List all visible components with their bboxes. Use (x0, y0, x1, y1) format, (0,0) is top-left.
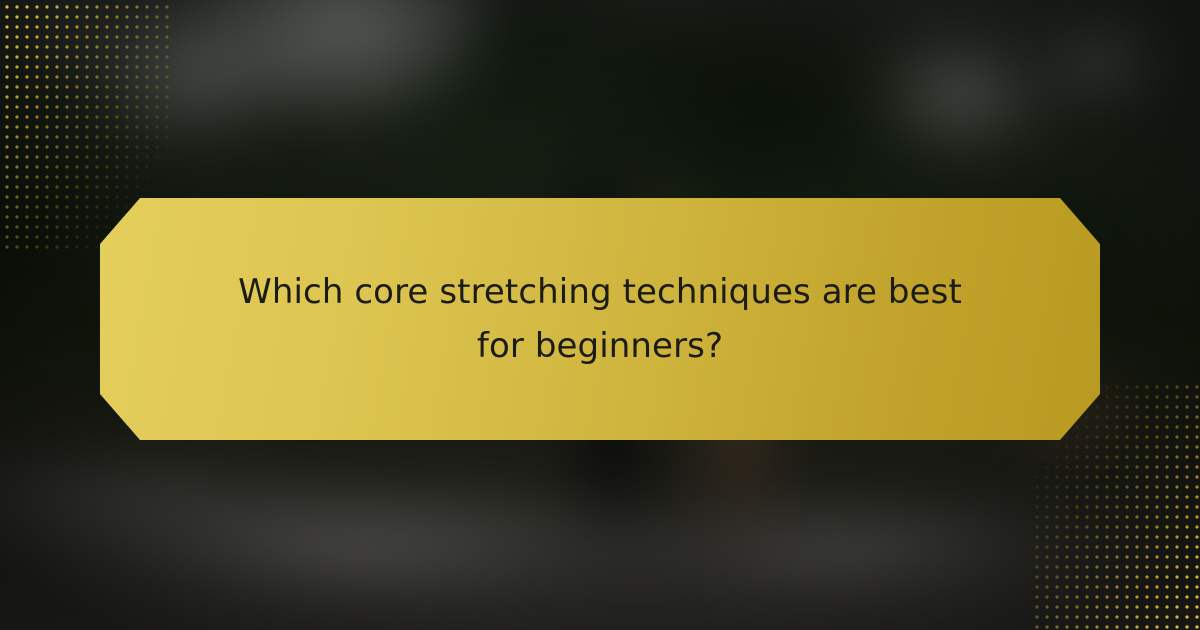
question-card: Which core stretching techniques are bes… (0, 0, 1200, 630)
headline-banner: Which core stretching techniques are bes… (100, 198, 1100, 440)
headline-text: Which core stretching techniques are bes… (200, 265, 1000, 373)
